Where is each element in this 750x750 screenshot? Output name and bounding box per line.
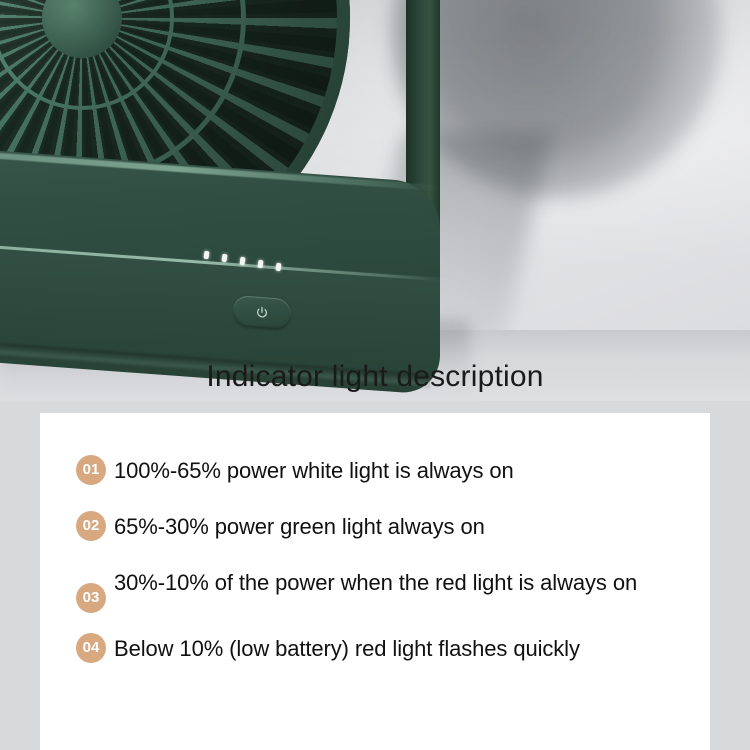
power-icon <box>255 304 270 320</box>
list-item: 01 100%-65% power white light is always … <box>76 455 700 485</box>
led-indicator-2 <box>221 254 227 263</box>
list-item-number: 03 <box>76 583 106 613</box>
product-photo <box>0 0 750 401</box>
list-item: 03 30%-10% of the power when the red lig… <box>76 567 700 613</box>
list-item: 04 Below 10% (low battery) red light fla… <box>76 633 700 663</box>
indicator-list: 01 100%-65% power white light is always … <box>76 455 700 689</box>
led-indicator-1 <box>203 251 209 260</box>
list-item-label: 30%-10% of the power when the red light … <box>114 567 637 597</box>
led-indicator-5 <box>275 263 281 272</box>
list-item-label: 65%-30% power green light always on <box>114 511 485 541</box>
led-indicator-4 <box>257 260 263 269</box>
list-item-number: 04 <box>76 633 106 663</box>
product-info-page: Indicator light description 01 100%-65% … <box>0 0 750 750</box>
list-item-label: 100%-65% power white light is always on <box>114 455 514 485</box>
indicator-description-card: 01 100%-65% power white light is always … <box>40 413 710 750</box>
led-indicator-3 <box>239 257 245 266</box>
power-button[interactable] <box>233 295 291 330</box>
page-title: Indicator light description <box>0 360 750 394</box>
list-item-label: Below 10% (low battery) red light flashe… <box>114 633 580 663</box>
list-item: 02 65%-30% power green light always on <box>76 511 700 541</box>
list-item-number: 02 <box>76 511 106 541</box>
list-item-number: 01 <box>76 455 106 485</box>
led-indicator-group <box>204 251 314 277</box>
